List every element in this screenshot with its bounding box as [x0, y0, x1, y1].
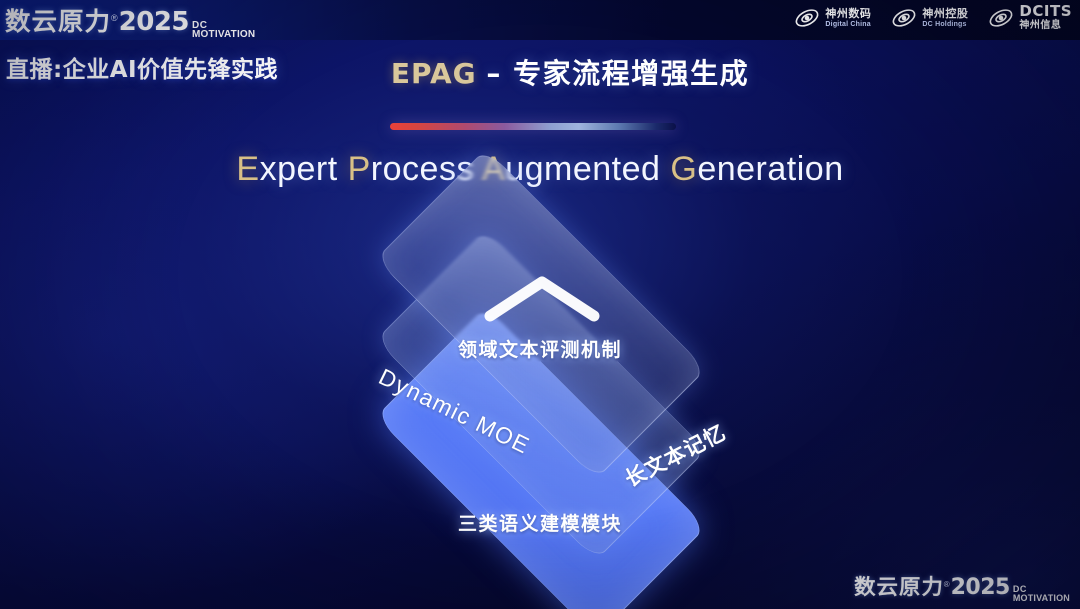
- brand-logo-dc: DC MOTIVATION: [192, 21, 255, 39]
- swirl-logo-icon: [794, 7, 820, 29]
- partner-logo-digital-china: 神州数码 Digital China: [794, 7, 871, 29]
- watermark-cn: 数云原力: [854, 571, 944, 601]
- stack-layer-top: [385, 158, 697, 470]
- brand-logo: 数云原力 ® 2025 DC MOTIVATION: [6, 2, 255, 32]
- slide-title-acronym: EPAG: [391, 57, 477, 90]
- partner-name-en: 神州信息: [1019, 21, 1072, 31]
- partner-name-cn: DCITS: [1019, 4, 1072, 19]
- partner-name-en: Digital China: [825, 21, 871, 28]
- stack-label-middle-right: 长文本记忆: [619, 417, 731, 494]
- subtitle-rest-process: rocess: [371, 150, 482, 188]
- brand-logo-year: 2025: [119, 7, 189, 37]
- subtitle-cap-a: A: [482, 150, 505, 188]
- subtitle-rest-augmented: ugmented: [505, 150, 670, 188]
- partner-logo-text: DCITS 神州信息: [1019, 4, 1072, 31]
- brand-logo-cn: 数云原力: [5, 2, 111, 38]
- partner-logo-text: 神州数码 Digital China: [825, 8, 871, 28]
- partner-logo-dcits: DCITS 神州信息: [988, 4, 1072, 31]
- stack-layer-bottom: [385, 316, 697, 609]
- stack-layer-middle: [385, 239, 697, 551]
- subtitle-cap-e: E: [236, 150, 259, 188]
- stack-label-bottom: 三类语义建模模块: [458, 509, 622, 536]
- watermark-registered: ®: [944, 580, 950, 589]
- brand-logo-dc-line2: MOTIVATION: [192, 30, 255, 39]
- watermark-dc-line2: MOTIVATION: [1013, 594, 1070, 603]
- slide-canvas: 数云原力 ® 2025 DC MOTIVATION 直播:企业AI价值先锋实践 …: [0, 0, 1080, 609]
- partner-logo-text: 神州控股 DC Holdings: [922, 8, 968, 28]
- brand-logo-registered: ®: [111, 13, 118, 23]
- subtitle-rest-expert: xpert: [260, 150, 348, 188]
- stack-label-top: 领域文本评测机制: [458, 335, 622, 362]
- subtitle-rest-generation: eneration: [697, 150, 843, 188]
- subtitle-cap-g: G: [670, 150, 697, 188]
- partner-name-en: DC Holdings: [922, 21, 968, 28]
- slide-title: EPAG – 专家流程增强生成: [0, 52, 1080, 92]
- swirl-logo-icon: [988, 7, 1014, 29]
- partner-name-cn: 神州控股: [922, 8, 968, 19]
- subtitle-cap-p: P: [348, 150, 371, 188]
- slide-title-cn: – 专家流程增强生成: [486, 57, 749, 90]
- partner-logo-group: 神州数码 Digital China 神州控股 DC Holdings: [794, 4, 1072, 31]
- slide-subtitle: Expert Process Augmented Generation: [0, 150, 1080, 189]
- stack-plate-middle: [376, 230, 707, 561]
- chevron-up-icon: [482, 272, 602, 329]
- watermark-logo: 数云原力 ® 2025 DC MOTIVATION: [855, 571, 1070, 605]
- stack-plate-top: [376, 149, 707, 480]
- stack-plate-bottom: [376, 307, 707, 609]
- stack-label-middle-left: Dynamic MOE: [374, 363, 534, 459]
- watermark-year: 2025: [951, 575, 1010, 600]
- watermark-dc: DC MOTIVATION: [1013, 585, 1070, 603]
- gradient-divider: [390, 123, 676, 130]
- partner-name-cn: 神州数码: [825, 8, 871, 19]
- partner-logo-dc-holdings: 神州控股 DC Holdings: [891, 7, 968, 29]
- swirl-logo-icon: [891, 7, 917, 29]
